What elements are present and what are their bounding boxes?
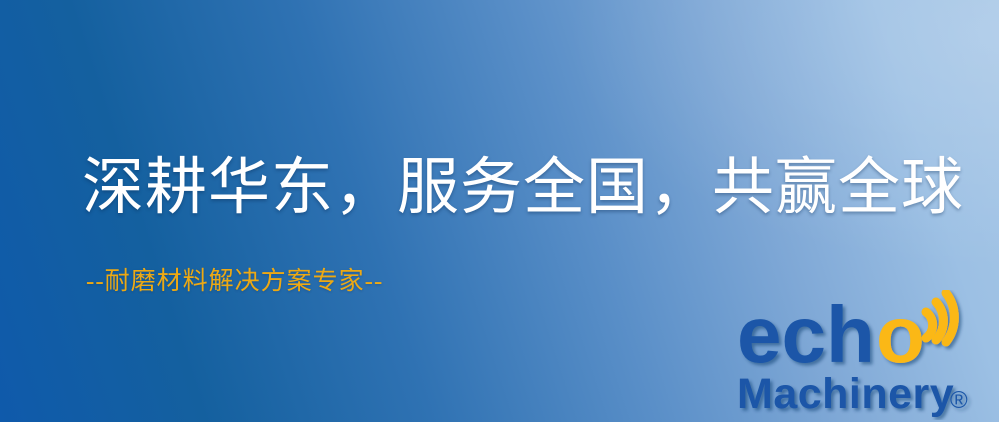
echo-machinery-logo[interactable]: ech o Machinery ®: [733, 290, 993, 420]
registered-trademark-icon: ®: [950, 387, 968, 414]
banner-headline: 深耕华东，服务全国，共赢全球: [82, 152, 964, 224]
hero-banner: 深耕华东，服务全国，共赢全球 --耐磨材料解决方案专家-- ech o: [0, 0, 999, 422]
logo-tagline-group: Machinery ®: [737, 370, 968, 418]
logo-wordmark: ech o: [737, 290, 925, 379]
logo-wordmark-dark: ech: [737, 290, 875, 379]
banner-subtitle: --耐磨材料解决方案专家--: [86, 266, 383, 298]
signal-arcs-icon: [926, 293, 954, 342]
logo-wordmark-gold: o: [876, 290, 925, 379]
logo-tagline: Machinery: [737, 370, 954, 418]
